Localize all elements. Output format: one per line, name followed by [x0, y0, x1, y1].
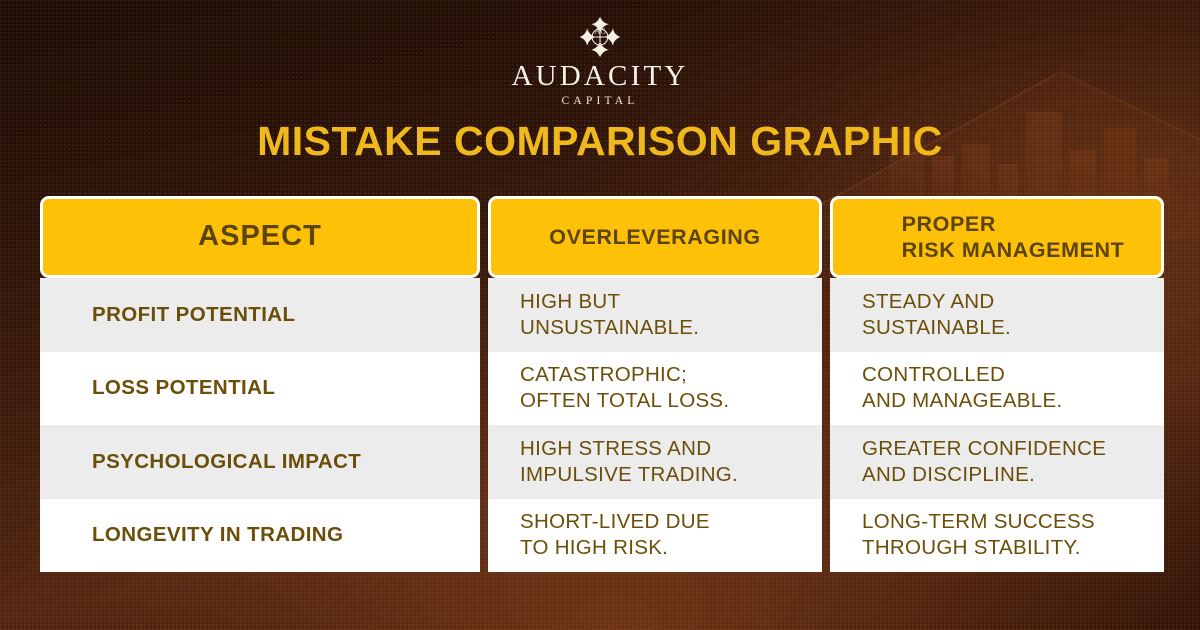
table-row: STEADY ANDSUSTAINABLE. — [830, 278, 1164, 352]
column-aspect-body: PROFIT POTENTIAL LOSS POTENTIAL PSYCHOLO… — [40, 278, 480, 572]
column-proper-risk-management: PROPERRISK MANAGEMENT STEADY ANDSUSTAINA… — [830, 196, 1164, 572]
brand-logo: AC AUDACITY CAPITAL — [0, 14, 1200, 107]
column-proper-risk-management-body: STEADY ANDSUSTAINABLE. CONTROLLEDAND MAN… — [830, 278, 1164, 572]
svg-text:AC: AC — [595, 26, 606, 35]
cell-overleveraging-3: SHORT-LIVED DUETO HIGH RISK. — [520, 509, 710, 561]
audacity-emblem-icon: AC — [577, 14, 623, 60]
cell-aspect-2: PSYCHOLOGICAL IMPACT — [92, 449, 361, 475]
table-row: LOSS POTENTIAL — [40, 352, 480, 426]
brand-wordmark: AUDACITY — [511, 62, 688, 91]
table-row: SHORT-LIVED DUETO HIGH RISK. — [488, 499, 822, 573]
cell-overleveraging-0: HIGH BUTUNSUSTAINABLE. — [520, 289, 699, 341]
brand-tagline: CAPITAL — [561, 95, 638, 107]
table-row: HIGH STRESS ANDIMPULSIVE TRADING. — [488, 425, 822, 499]
cell-aspect-0: PROFIT POTENTIAL — [92, 302, 295, 328]
cell-proper-risk-2: GREATER CONFIDENCEAND DISCIPLINE. — [862, 436, 1106, 488]
table-row: HIGH BUTUNSUSTAINABLE. — [488, 278, 822, 352]
column-overleveraging-body: HIGH BUTUNSUSTAINABLE. CATASTROPHIC;OFTE… — [488, 278, 822, 572]
cell-aspect-1: LOSS POTENTIAL — [92, 375, 275, 401]
table-row: PSYCHOLOGICAL IMPACT — [40, 425, 480, 499]
cell-proper-risk-0: STEADY ANDSUSTAINABLE. — [862, 289, 1011, 341]
cell-overleveraging-1: CATASTROPHIC;OFTEN TOTAL LOSS. — [520, 362, 729, 414]
page-title: MISTAKE COMPARISON GRAPHIC — [0, 118, 1200, 165]
table-row: GREATER CONFIDENCEAND DISCIPLINE. — [830, 425, 1164, 499]
column-overleveraging: OVERLEVERAGING HIGH BUTUNSUSTAINABLE. CA… — [488, 196, 822, 572]
comparison-table: ASPECT PROFIT POTENTIAL LOSS POTENTIAL P… — [40, 196, 1164, 572]
cell-overleveraging-2: HIGH STRESS ANDIMPULSIVE TRADING. — [520, 436, 738, 488]
cell-proper-risk-3: LONG-TERM SUCCESSTHROUGH STABILITY. — [862, 509, 1095, 561]
table-row: PROFIT POTENTIAL — [40, 278, 480, 352]
table-header-aspect: ASPECT — [40, 196, 480, 278]
table-row: LONG-TERM SUCCESSTHROUGH STABILITY. — [830, 499, 1164, 573]
table-row: CATASTROPHIC;OFTEN TOTAL LOSS. — [488, 352, 822, 426]
table-header-proper-risk-management: PROPERRISK MANAGEMENT — [830, 196, 1164, 278]
cell-proper-risk-1: CONTROLLEDAND MANAGEABLE. — [862, 362, 1062, 414]
table-row: CONTROLLEDAND MANAGEABLE. — [830, 352, 1164, 426]
infographic-canvas: AC AUDACITY CAPITAL MISTAKE COMPARISON G… — [0, 0, 1200, 630]
column-aspect: ASPECT PROFIT POTENTIAL LOSS POTENTIAL P… — [40, 196, 480, 572]
table-header-overleveraging: OVERLEVERAGING — [488, 196, 822, 278]
table-row: LONGEVITY IN TRADING — [40, 499, 480, 573]
cell-aspect-3: LONGEVITY IN TRADING — [92, 522, 343, 548]
